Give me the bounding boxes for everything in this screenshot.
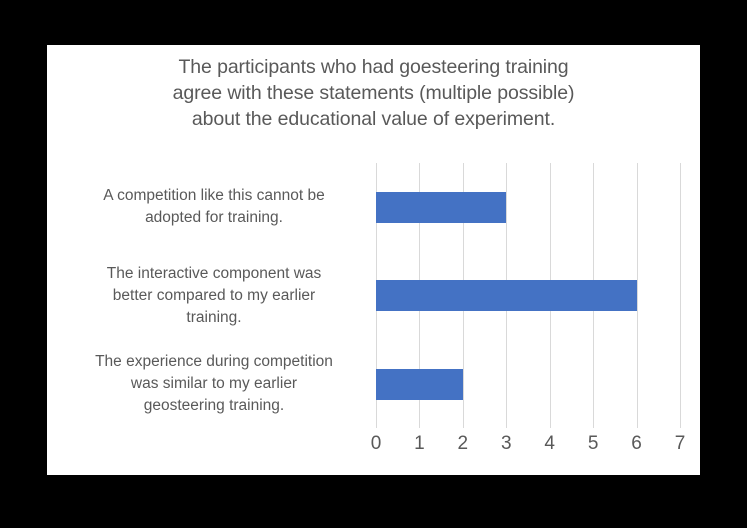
x-tick-label-5: 5 [578, 433, 608, 455]
plot-area [376, 163, 680, 428]
x-tick-label-0: 0 [361, 433, 391, 455]
category-label-0: A competition like this cannot be adopte… [55, 185, 373, 229]
chart-title: The participants who had goesteering tra… [87, 54, 660, 132]
x-axis-labels: 01234567 [376, 433, 680, 461]
x-tick-label-1: 1 [404, 433, 434, 455]
bar-0[interactable] [376, 192, 506, 223]
screenshot-root: The participants who had goesteering tra… [0, 0, 747, 528]
x-tick-label-3: 3 [491, 433, 521, 455]
chart-card: The participants who had goesteering tra… [47, 45, 700, 475]
x-tick-label-6: 6 [622, 433, 652, 455]
category-label-2: The experience during competition was si… [55, 351, 373, 417]
bar-row [376, 340, 680, 428]
category-axis-labels: A competition like this cannot be adopte… [55, 163, 373, 428]
bar-row [376, 163, 680, 251]
bar-row [376, 251, 680, 339]
gridline-7 [680, 163, 681, 428]
bar-1[interactable] [376, 280, 637, 311]
x-tick-label-2: 2 [448, 433, 478, 455]
bars-layer [376, 163, 680, 428]
x-tick-label-7: 7 [665, 433, 695, 455]
category-label-1: The interactive component was better com… [55, 263, 373, 329]
x-tick-label-4: 4 [535, 433, 565, 455]
bar-2[interactable] [376, 369, 463, 400]
